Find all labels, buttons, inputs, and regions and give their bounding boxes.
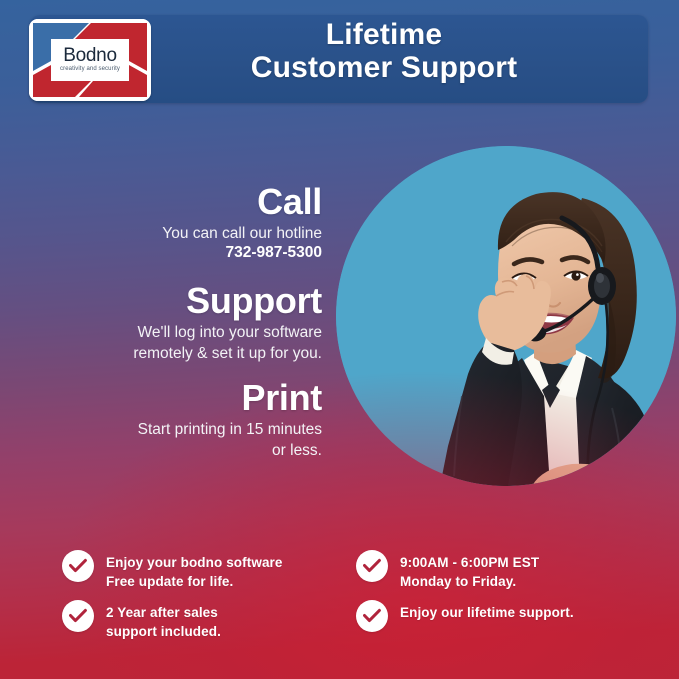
section-support-line1: We'll log into your software xyxy=(133,323,322,342)
feature-list: Enjoy your bodno software Free update fo… xyxy=(0,540,679,650)
section-print-line2: or less. xyxy=(138,441,322,460)
section-call: Call You can call our hotline 732-987-53… xyxy=(162,182,322,262)
list-item-line2: support included. xyxy=(106,623,221,642)
page-title-line2: Customer Support xyxy=(150,51,618,84)
section-print: Print Start printing in 15 minutes or le… xyxy=(138,378,322,460)
section-print-heading: Print xyxy=(138,378,322,418)
agent-photo xyxy=(336,146,676,486)
list-item-line2: Monday to Friday. xyxy=(400,573,539,592)
list-item-text: 2 Year after sales support included. xyxy=(106,600,221,641)
logo-tagline: creativity and security xyxy=(29,66,151,72)
check-circle-icon xyxy=(356,550,388,582)
list-item-line1: 9:00AM - 6:00PM EST xyxy=(400,554,539,573)
list-item-line2: Free update for life. xyxy=(106,573,283,592)
bodno-logo[interactable]: Bodno creativity and security xyxy=(29,19,151,101)
list-item-text: Enjoy your bodno software Free update fo… xyxy=(106,550,283,591)
list-item-text: 9:00AM - 6:00PM EST Monday to Friday. xyxy=(400,550,539,591)
section-call-heading: Call xyxy=(162,182,322,222)
section-support-heading: Support xyxy=(133,281,322,321)
support-agent-illustration xyxy=(336,146,676,486)
list-item: 9:00AM - 6:00PM EST Monday to Friday. xyxy=(356,550,539,591)
section-support-line2: remotely & set it up for you. xyxy=(133,344,322,363)
section-print-line1: Start printing in 15 minutes xyxy=(138,420,322,439)
check-circle-icon xyxy=(356,600,388,632)
list-item-text: Enjoy our lifetime support. xyxy=(400,600,574,623)
page-title: Lifetime Customer Support xyxy=(150,18,618,84)
section-call-phone[interactable]: 732-987-5300 xyxy=(162,243,322,262)
support-poster: Lifetime Customer Support Bodno creativi… xyxy=(0,0,679,679)
check-circle-icon xyxy=(62,550,94,582)
list-item: Enjoy your bodno software Free update fo… xyxy=(62,550,283,591)
list-item-line1: Enjoy our lifetime support. xyxy=(400,604,574,623)
section-support: Support We'll log into your software rem… xyxy=(133,281,322,363)
list-item: Enjoy our lifetime support. xyxy=(356,600,574,632)
list-item-line1: 2 Year after sales xyxy=(106,604,221,623)
section-call-line1: You can call our hotline xyxy=(162,224,322,243)
list-item-line1: Enjoy your bodno software xyxy=(106,554,283,573)
page-title-line1: Lifetime xyxy=(326,18,443,51)
check-circle-icon xyxy=(62,600,94,632)
logo-wordmark: Bodno xyxy=(29,45,151,67)
list-item: 2 Year after sales support included. xyxy=(62,600,221,641)
